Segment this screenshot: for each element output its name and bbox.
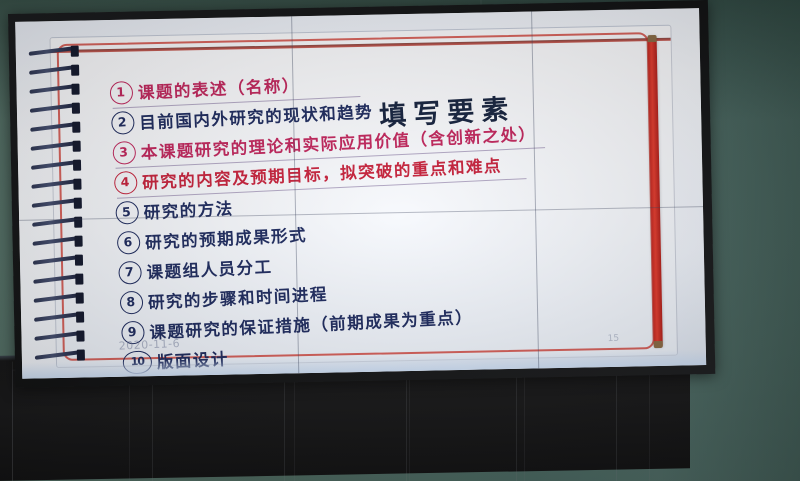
list-item-marker: 1	[109, 80, 133, 104]
list-item-label: 研究的方法	[143, 199, 234, 222]
list-item-label: 课题组人员分工	[146, 257, 273, 282]
spiral-ring	[28, 122, 80, 134]
spiral-binding	[27, 44, 89, 364]
slide-content: 填写要素 1课题的表述（名称）2目前国内外研究的现状和趋势3本课题研究的理论和实…	[15, 8, 706, 379]
list-item-marker: 7	[118, 260, 142, 284]
spiral-ring	[29, 160, 81, 172]
handwritten-list: 填写要素 1课题的表述（名称）2目前国内外研究的现状和趋势3本课题研究的理论和实…	[109, 57, 615, 378]
spiral-ring	[31, 274, 83, 286]
spiral-ring	[32, 293, 84, 305]
spiral-ring	[31, 255, 83, 267]
list-item-marker: 8	[119, 290, 143, 314]
spiral-ring	[30, 236, 82, 248]
spiral-ring	[29, 141, 81, 153]
display-screen[interactable]: 填写要素 1课题的表述（名称）2目前国内外研究的现状和趋势3本课题研究的理论和实…	[15, 8, 706, 379]
list-item-label: 课题的表述（名称）	[138, 76, 301, 103]
list-item-label: 研究的预期成果形式	[145, 226, 308, 253]
spiral-ring	[27, 46, 79, 58]
spiral-ring	[30, 198, 82, 210]
list-item-marker: 3	[112, 140, 136, 164]
list-item-label: 研究的步骤和时间进程	[148, 285, 329, 313]
list-item-label: 版面设计	[156, 350, 229, 372]
list-item-label: 目前国内外研究的现状和趋势	[139, 102, 374, 132]
video-wall-display[interactable]: 填写要素 1课题的表述（名称）2目前国内外研究的现状和趋势3本课题研究的理论和实…	[8, 0, 715, 388]
spiral-ring	[29, 179, 81, 191]
spiral-ring	[27, 84, 79, 96]
list-item-marker: 2	[111, 110, 135, 134]
spiral-ring	[30, 217, 82, 229]
spiral-ring	[32, 312, 84, 324]
list-item-marker: 10	[122, 350, 152, 374]
spiral-ring	[28, 103, 80, 115]
list-item-marker: 6	[117, 230, 141, 254]
date-stamp: 2020-11-6	[118, 337, 180, 353]
spiral-ring	[33, 350, 85, 362]
page-number: 15	[607, 334, 619, 344]
notebook-page: 填写要素 1课题的表述（名称）2目前国内外研究的现状和趋势3本课题研究的理论和实…	[49, 25, 678, 368]
photo-scene: 填写要素 1课题的表述（名称）2目前国内外研究的现状和趋势3本课题研究的理论和实…	[0, 0, 800, 481]
spiral-ring	[32, 331, 84, 343]
list-item-marker: 5	[115, 200, 139, 224]
list-item-marker: 4	[114, 170, 138, 194]
spiral-ring	[27, 65, 79, 77]
